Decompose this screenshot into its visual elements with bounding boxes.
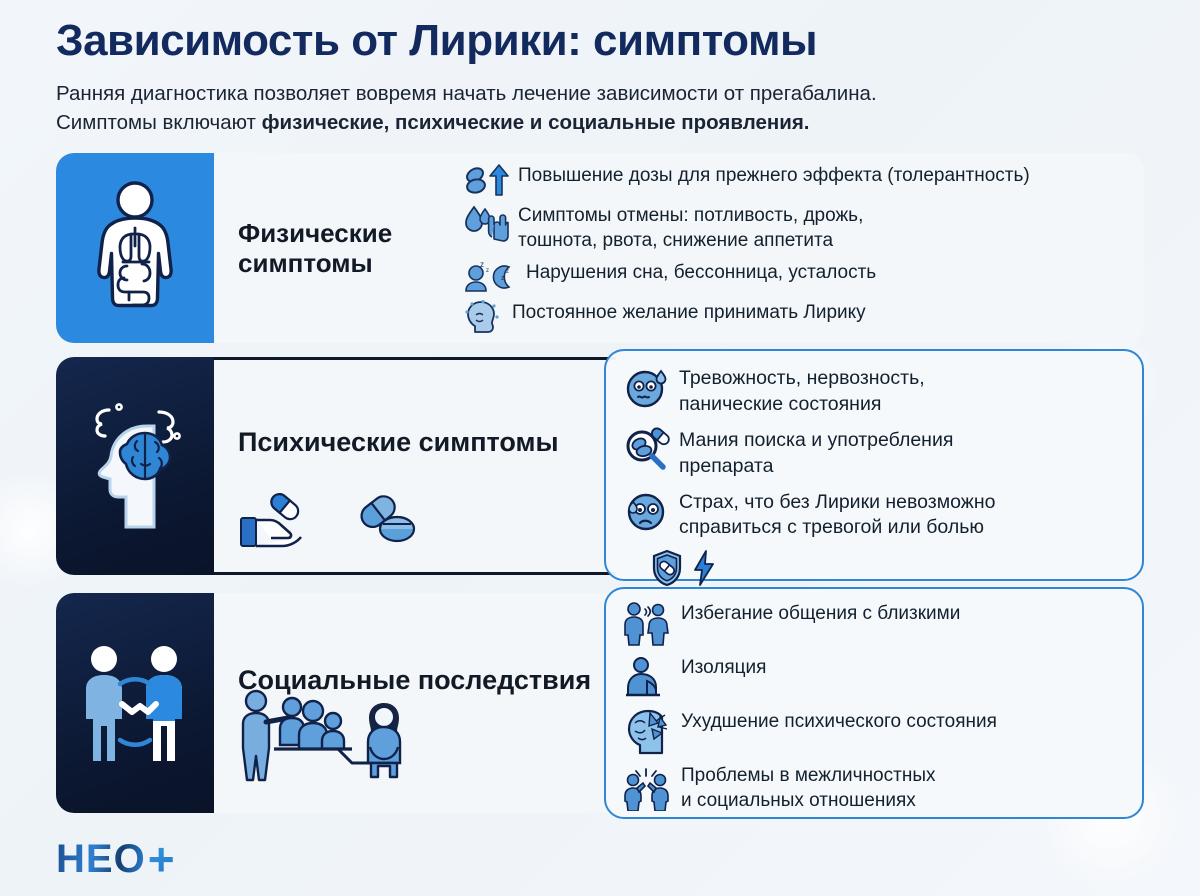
craving-head-icon [463, 300, 503, 334]
page-subtitle: Ранняя диагностика позволяет вовремя нач… [56, 79, 1144, 137]
footer-logo: НЕО + [56, 836, 175, 882]
card-physical-symptoms[interactable]: Физические симптомы По [56, 153, 1144, 343]
list-item-label: Ухудшение психического состояния [681, 709, 997, 735]
card-social-list-panel: Избегание общения с близкими [604, 587, 1144, 819]
card-physical-bullets: Повышение дозы для прежнего эффекта (тол… [463, 163, 1030, 333]
hand-with-capsule-icon [238, 490, 324, 550]
cards-container: Физические симптомы По [0, 153, 1200, 813]
svg-text:z: z [486, 268, 489, 274]
list-item[interactable]: Страх, что без Лирики невозможно справит… [624, 489, 1126, 541]
list-item-label: Избегание общения с близкими [681, 601, 960, 627]
insomnia-moon-icon: z z z z [463, 260, 517, 294]
human-body-organs-icon [87, 178, 183, 318]
avoiding-contact-icon [622, 601, 672, 647]
list-item-label: Проблемы в межличностных и социальных от… [681, 763, 935, 813]
magnifier-pills-icon [624, 427, 670, 473]
list-item-label: Тревожность, нервозность, панические сос… [679, 365, 925, 417]
list-item[interactable]: Тревожность, нервозность, панические сос… [624, 365, 1126, 417]
card-mental-symptoms[interactable]: Психические симптомы [56, 357, 616, 575]
card-social-media [56, 593, 214, 813]
list-item[interactable]: Избегание общения с близкими [622, 601, 1128, 647]
svg-text:z: z [506, 269, 509, 275]
subtitle-line-1: Ранняя диагностика позволяет вовремя нач… [56, 82, 877, 105]
list-item[interactable]: Постоянное желание принимать Лирику [463, 300, 1030, 334]
list-item-label: Нарушения сна, бессонница, усталость [526, 260, 876, 286]
list-item-label: Повышение дозы для прежнего эффекта (тол… [518, 163, 1030, 189]
logo-wordmark: НЕО [56, 839, 146, 879]
pills-up-arrow-icon [463, 163, 509, 197]
card-physical-heading: Физические симптомы [238, 218, 453, 279]
header: Зависимость от Лирики: симптомы Ранняя д… [0, 0, 1200, 137]
card-mental-body: Психические симптомы [214, 357, 616, 575]
list-item[interactable]: Повышение дозы для прежнего эффекта (тол… [463, 163, 1030, 197]
card-social-bullets: Избегание общения с близкими [622, 601, 1128, 813]
card-mental-heading: Психические симптомы [238, 427, 559, 459]
group-exclusion-icon [234, 687, 424, 783]
infographic-page: Зависимость от Лирики: симптомы Ранняя д… [0, 0, 1200, 896]
list-item-label: Симптомы отмены: потливость, дрожь, тошн… [518, 203, 863, 253]
card-physical-body: Физические симптомы По [214, 153, 1144, 343]
subtitle-line-2-plain: Симптомы включают [56, 111, 262, 134]
logo-plus-icon: + [148, 836, 175, 882]
page-title: Зависимость от Лирики: симптомы [56, 16, 1144, 65]
isolation-sitting-icon [622, 655, 672, 701]
mental-decline-head-icon [622, 709, 672, 755]
list-item-label: Изоляция [681, 655, 766, 681]
svg-text:z: z [501, 275, 505, 282]
conflict-people-icon [622, 763, 672, 811]
lightning-bolt-icon [692, 549, 716, 587]
card-mental-list-panel: Тревожность, нервозность, панические сос… [604, 349, 1144, 581]
card-mental-extra-icons [650, 549, 1126, 587]
sweat-drop-tremor-hand-icon [463, 203, 509, 243]
head-brain-icon [81, 402, 189, 530]
anxious-face-icon [624, 365, 670, 411]
svg-text:z: z [480, 260, 484, 269]
list-item-label: Мания поиска и употребления препарата [679, 427, 953, 479]
list-item[interactable]: Мания поиска и употребления препарата [624, 427, 1126, 479]
card-mental-media [56, 357, 214, 575]
list-item-label: Постоянное желание принимать Лирику [512, 300, 866, 326]
card-mental-bullets: Тревожность, нервозность, панические сос… [624, 365, 1126, 586]
list-item[interactable]: z z z z Нарушения сна, бессонница, устал… [463, 260, 1030, 294]
shield-capsule-icon [650, 549, 684, 587]
subtitle-line-2-bold: физические, психические и социальные про… [262, 111, 810, 134]
list-item[interactable]: Ухудшение психического состояния [622, 709, 1128, 755]
fearful-face-icon [624, 489, 670, 535]
list-item[interactable]: Проблемы в межличностных и социальных от… [622, 763, 1128, 813]
list-item[interactable]: Симптомы отмены: потливость, дрожь, тошн… [463, 203, 1030, 253]
card-physical-media [56, 153, 214, 343]
two-people-handshake-icon [76, 642, 194, 764]
pills-pair-icon [352, 490, 424, 550]
list-item-label: Страх, что без Лирики невозможно справит… [679, 489, 995, 541]
list-item[interactable]: Изоляция [622, 655, 1128, 701]
card-mental-mid-icons [238, 490, 424, 550]
card-social-mid-icons [234, 687, 424, 783]
